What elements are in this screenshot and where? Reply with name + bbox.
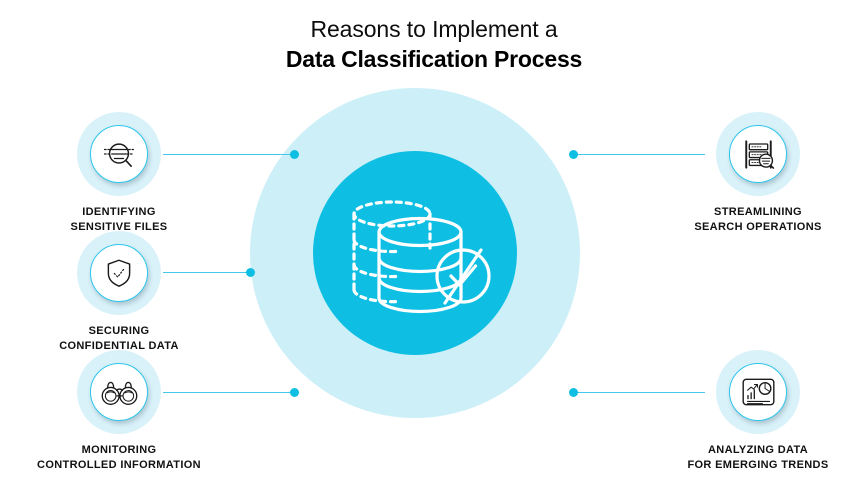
server-search-icon: [729, 125, 787, 183]
node-label: IDENTIFYING SENSITIVE FILES: [29, 205, 209, 234]
analytics-dashboard-icon: [729, 363, 787, 421]
connector-dot-streamlining: [569, 150, 578, 159]
connector-dot-monitoring: [290, 388, 299, 397]
page-title: Reasons to Implement a Data Classificati…: [0, 14, 868, 75]
magnifier-document-icon: [90, 125, 148, 183]
connector-dot-analyzing: [569, 388, 578, 397]
database-verified-icon: [340, 186, 500, 326]
node-securing-confidential-data[interactable]: SECURING CONFIDENTIAL DATA: [29, 231, 209, 353]
title-line-2: Data Classification Process: [0, 44, 868, 74]
node-analyzing-data-emerging-trends[interactable]: ANALYZING DATA FOR EMERGING TRENDS: [668, 350, 848, 472]
node-halo: [77, 350, 161, 434]
node-halo: [77, 231, 161, 315]
node-label: ANALYZING DATA FOR EMERGING TRENDS: [668, 443, 848, 472]
binoculars-icon: [90, 363, 148, 421]
node-halo: [716, 350, 800, 434]
infographic-canvas: Reasons to Implement a Data Classificati…: [0, 0, 868, 489]
node-streamlining-search-operations[interactable]: STREAMLINING SEARCH OPERATIONS: [668, 112, 848, 234]
shield-check-icon: [90, 244, 148, 302]
node-label: SECURING CONFIDENTIAL DATA: [29, 324, 209, 353]
node-label: STREAMLINING SEARCH OPERATIONS: [668, 205, 848, 234]
node-halo: [716, 112, 800, 196]
connector-dot-identifying: [290, 150, 299, 159]
title-line-1: Reasons to Implement a: [0, 14, 868, 44]
node-label: MONITORING CONTROLLED INFORMATION: [29, 443, 209, 472]
node-identifying-sensitive-files[interactable]: IDENTIFYING SENSITIVE FILES: [29, 112, 209, 234]
node-halo: [77, 112, 161, 196]
node-monitoring-controlled-information[interactable]: MONITORING CONTROLLED INFORMATION: [29, 350, 209, 472]
connector-dot-securing: [246, 268, 255, 277]
